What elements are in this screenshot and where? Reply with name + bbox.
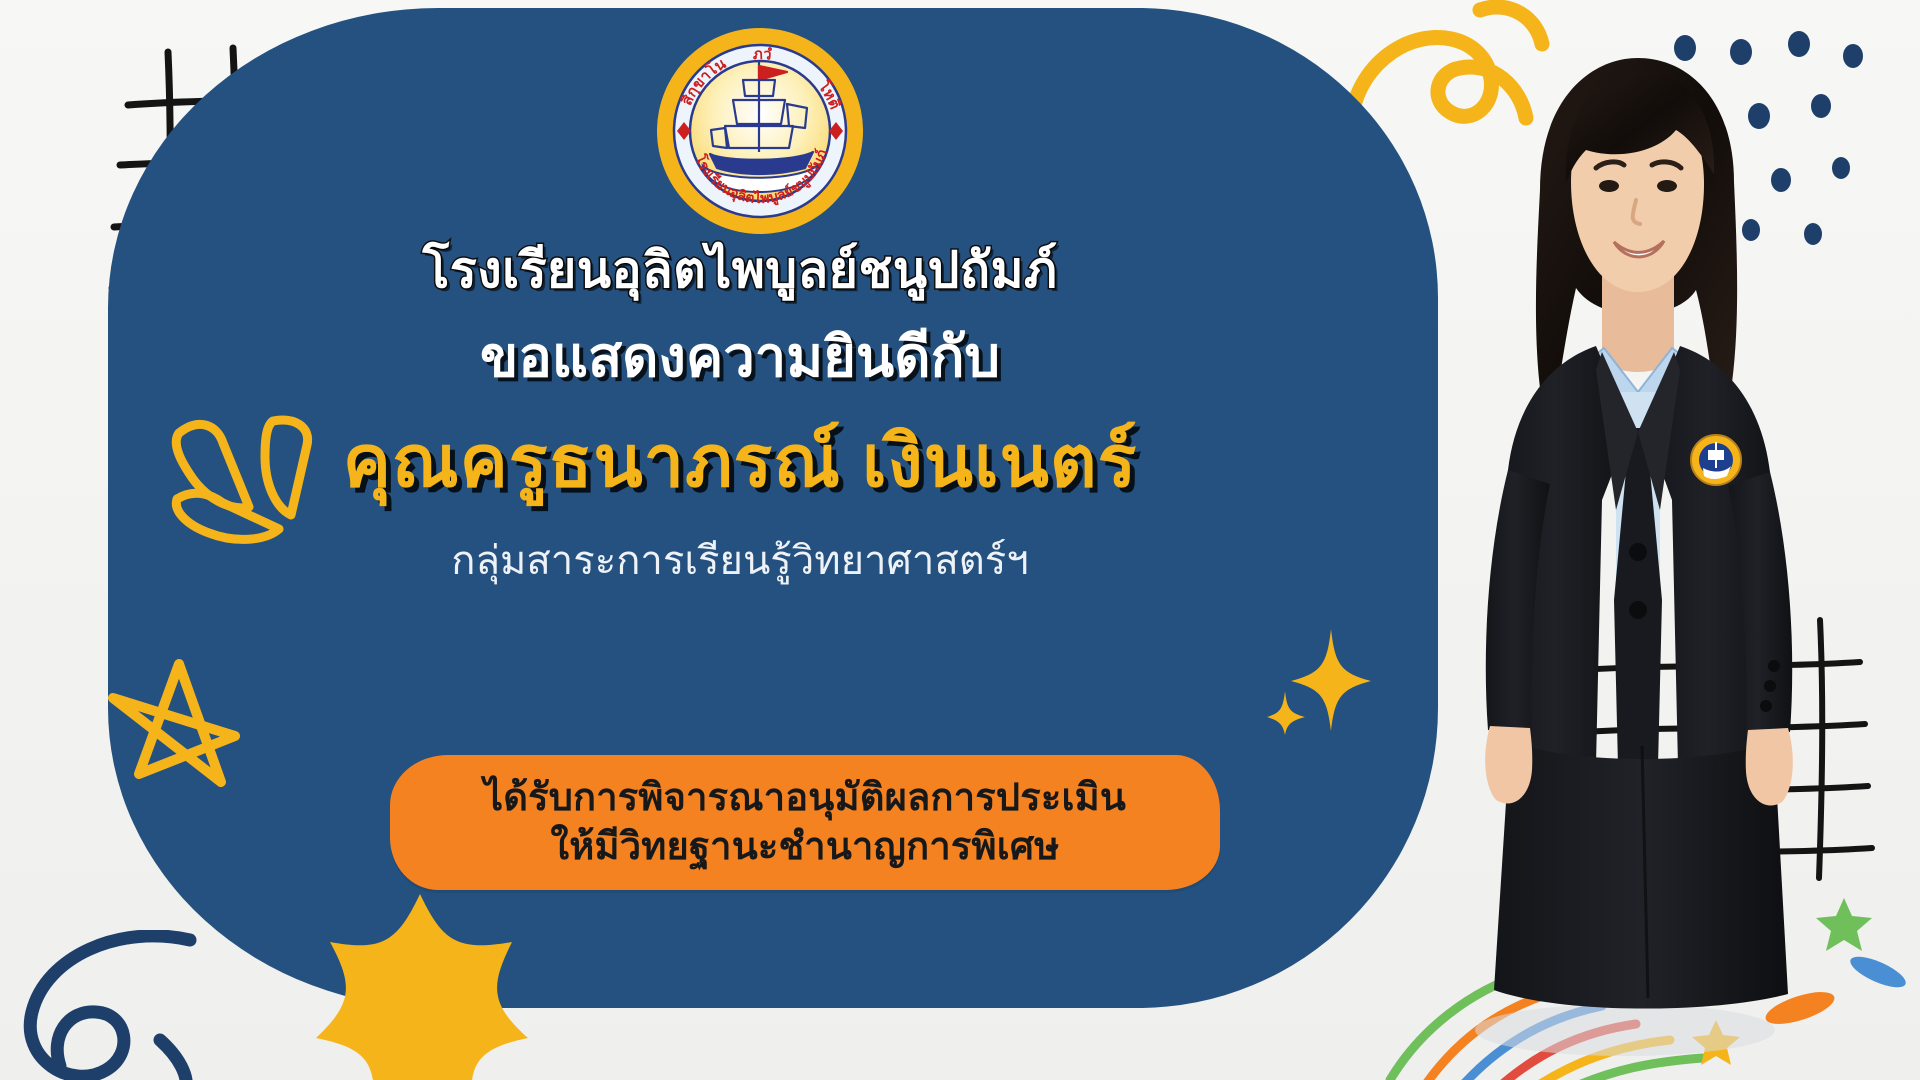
school-logo: สิกฺขาโน ภวํ โหติ โรงเรียนอุลิตไพบูลย์ชน…: [655, 26, 865, 236]
award-line-2: ให้มีวิทยฐานะชำนาญการพิเศษ: [551, 823, 1060, 872]
svg-text:ภวํ: ภวํ: [753, 46, 773, 64]
department-name: กลุ่มสาระการเรียนรู้วิทยาศาสตร์ฯ: [200, 535, 1280, 587]
school-name: โรงเรียนอุลิตไพบูลย์ชนูปถัมภ์: [200, 240, 1280, 301]
award-ribbon: ได้รับการพิจารณาอนุมัติผลการประเมิน ให้ม…: [390, 755, 1220, 890]
award-line-1: ได้รับการพิจารณาอนุมัติผลการประเมิน: [484, 774, 1126, 823]
logo-ring-text-top-center: ภวํ: [753, 46, 773, 64]
teacher-name: คุณครูธนาภรณ์ เงินเนตร์: [200, 420, 1280, 505]
text-block: โรงเรียนอุลิตไพบูลย์ชนูปถัมภ์ ขอแสดงความ…: [200, 240, 1280, 587]
teacher-portrait: [1390, 40, 1860, 1080]
banner-canvas: สิกฺขาโน ภวํ โหติ โรงเรียนอุลิตไพบูลย์ชน…: [0, 0, 1920, 1080]
congratulation-line: ขอแสดงความยินดีกับ: [200, 323, 1280, 390]
